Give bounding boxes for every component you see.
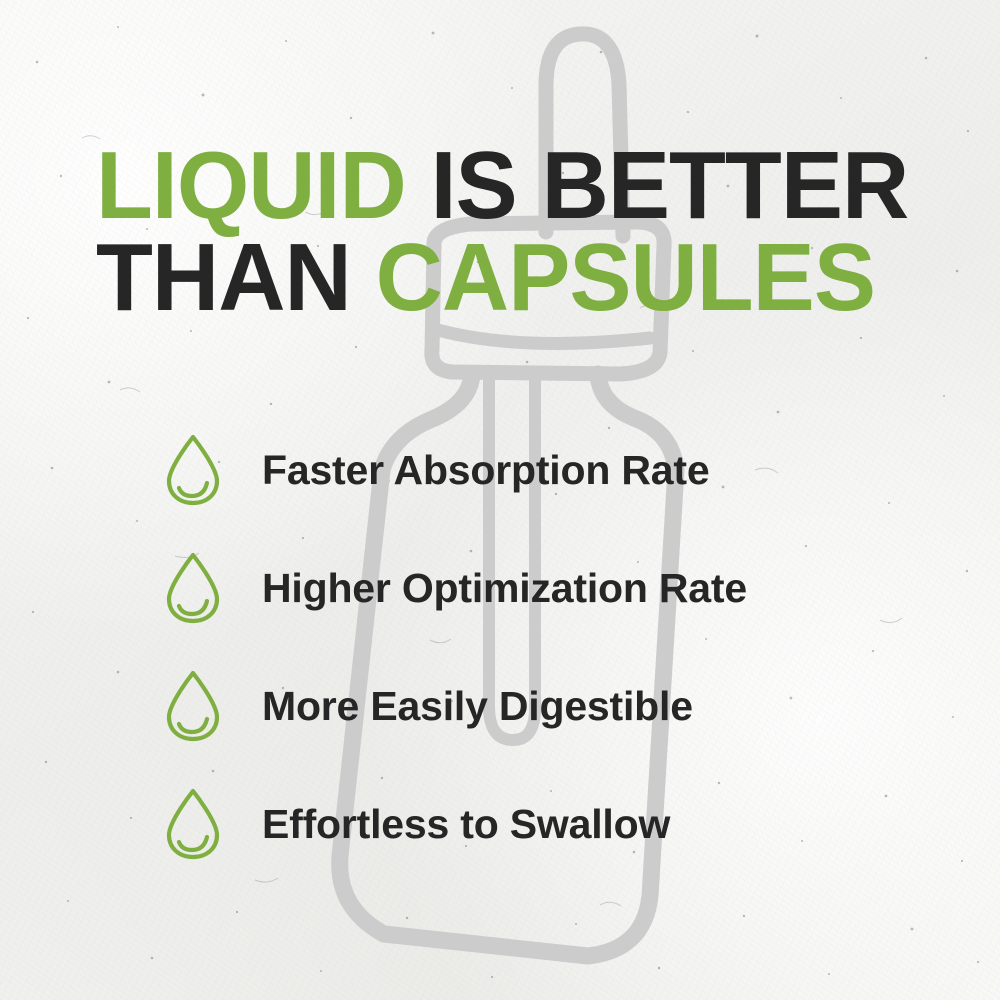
benefit-label: Higher Optimization Rate bbox=[262, 565, 747, 612]
water-drop-icon bbox=[162, 432, 224, 508]
headline: LIQUID IS BETTER THAN CAPSULES bbox=[96, 140, 926, 324]
benefit-item: More Easily Digestible bbox=[162, 668, 922, 744]
headline-word-than: THAN bbox=[96, 224, 351, 331]
benefits-list: Faster Absorption Rate Higher Optimizati… bbox=[162, 432, 922, 862]
benefit-label: More Easily Digestible bbox=[262, 683, 693, 730]
water-drop-icon bbox=[162, 786, 224, 862]
headline-word-liquid: LIQUID bbox=[96, 132, 406, 239]
benefit-label: Effortless to Swallow bbox=[262, 801, 670, 848]
benefit-item: Higher Optimization Rate bbox=[162, 550, 922, 626]
benefit-label: Faster Absorption Rate bbox=[262, 447, 709, 494]
headline-line-2: THAN CAPSULES bbox=[96, 232, 901, 324]
headline-line-1: LIQUID IS BETTER bbox=[96, 140, 901, 232]
water-drop-icon bbox=[162, 668, 224, 744]
headline-phrase-is-better: IS BETTER bbox=[431, 132, 909, 239]
water-drop-icon bbox=[162, 550, 224, 626]
headline-word-capsules: CAPSULES bbox=[376, 224, 875, 331]
benefit-item: Faster Absorption Rate bbox=[162, 432, 922, 508]
promo-graphic-canvas: LIQUID IS BETTER THAN CAPSULES Faster Ab… bbox=[0, 0, 1000, 1000]
benefit-item: Effortless to Swallow bbox=[162, 786, 922, 862]
